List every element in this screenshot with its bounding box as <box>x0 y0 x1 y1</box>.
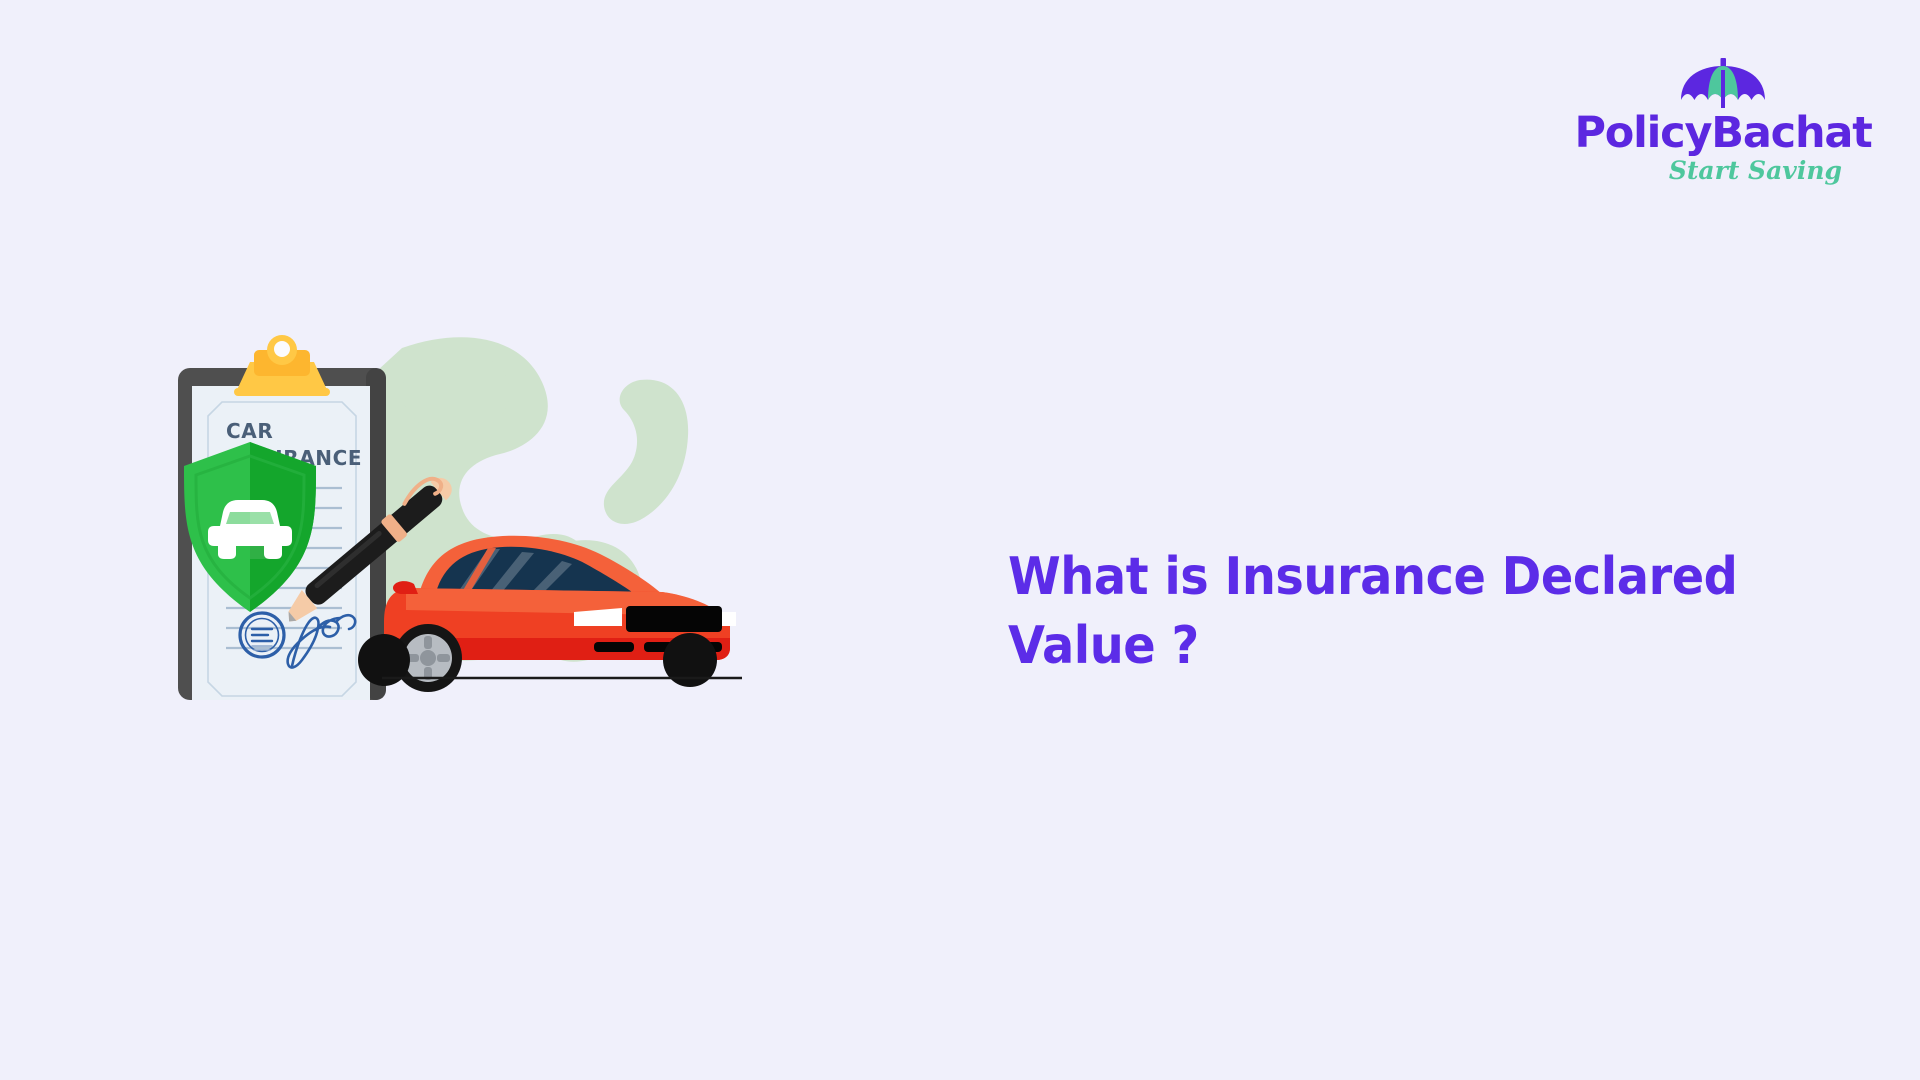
brand-wordmark: PolicyBachat <box>1574 112 1871 155</box>
car-insurance-illustration: CAR INSURANCE <box>170 330 750 700</box>
grille <box>626 606 722 632</box>
brand-tagline: Start Saving <box>1669 158 1848 183</box>
headlight-right <box>722 612 736 626</box>
document-title-line1: CAR <box>226 419 273 443</box>
umbrella-icon <box>1678 58 1768 110</box>
page-title: What is Insurance Declared Value ? <box>1008 543 1762 681</box>
page-title-line1: What is Insurance Declared <box>1008 547 1737 607</box>
brand-logo[interactable]: PolicyBachat Start Saving <box>1598 58 1848 188</box>
page-title-line2: Value ? <box>1008 616 1199 676</box>
clipboard-clip <box>234 335 330 396</box>
